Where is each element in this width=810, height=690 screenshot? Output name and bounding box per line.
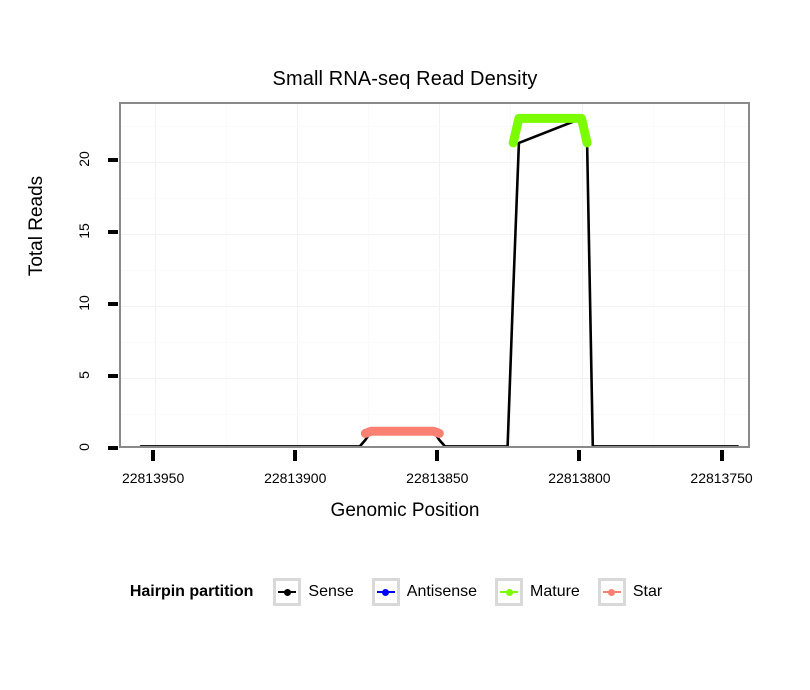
legend-key-mature-icon (495, 578, 523, 606)
legend-key-dot (284, 589, 291, 596)
y-tick-label: 0 (76, 430, 92, 464)
legend-key-dot (382, 589, 389, 596)
legend-label: Antisense (407, 583, 477, 601)
y-tick-label: 10 (76, 286, 92, 320)
x-tick-label: 22813900 (235, 470, 355, 486)
legend-item-sense[interactable]: Sense (273, 578, 367, 606)
x-tick-mark (720, 450, 724, 461)
y-tick-mark (108, 302, 118, 306)
legend-key-star-icon (598, 578, 626, 606)
x-tick-mark (435, 450, 439, 461)
series-line-sense (141, 118, 738, 446)
y-tick-mark (108, 446, 118, 450)
x-tick-mark (293, 450, 297, 461)
x-tick-mark (151, 450, 155, 461)
x-tick-mark (577, 450, 581, 461)
legend-item-mature[interactable]: Mature (495, 578, 594, 606)
x-tick-label: 22813800 (519, 470, 639, 486)
legend-key-dot (608, 589, 615, 596)
legend-key-antisense-icon (372, 578, 400, 606)
y-tick-mark (108, 374, 118, 378)
legend: Hairpin partition SenseAntisenseMatureSt… (0, 578, 810, 606)
legend-key-sense-icon (273, 578, 301, 606)
x-axis-title: Genomic Position (0, 500, 810, 522)
series-line-star (365, 431, 439, 433)
y-axis-title: Total Reads (26, 126, 48, 326)
x-tick-label: 22813850 (377, 470, 497, 486)
x-tick-label: 22813750 (662, 470, 782, 486)
legend-items: SenseAntisenseMatureStar (273, 578, 680, 606)
y-tick-mark (108, 230, 118, 234)
x-tick-label: 22813950 (93, 470, 213, 486)
series-layer (121, 104, 750, 448)
legend-label: Mature (530, 583, 580, 601)
plot-panel (119, 102, 750, 448)
legend-title: Hairpin partition (130, 583, 254, 601)
legend-item-star[interactable]: Star (598, 578, 676, 606)
legend-label: Sense (308, 583, 353, 601)
chart-figure: Small RNA-seq Read Density 05101520 Tota… (0, 0, 810, 690)
y-tick-label: 5 (76, 358, 92, 392)
legend-label: Star (633, 583, 662, 601)
legend-item-antisense[interactable]: Antisense (372, 578, 491, 606)
chart-title: Small RNA-seq Read Density (0, 68, 810, 91)
y-tick-label: 15 (76, 214, 92, 248)
y-tick-label: 20 (76, 142, 92, 176)
y-tick-mark (108, 158, 118, 162)
legend-key-dot (506, 589, 513, 596)
